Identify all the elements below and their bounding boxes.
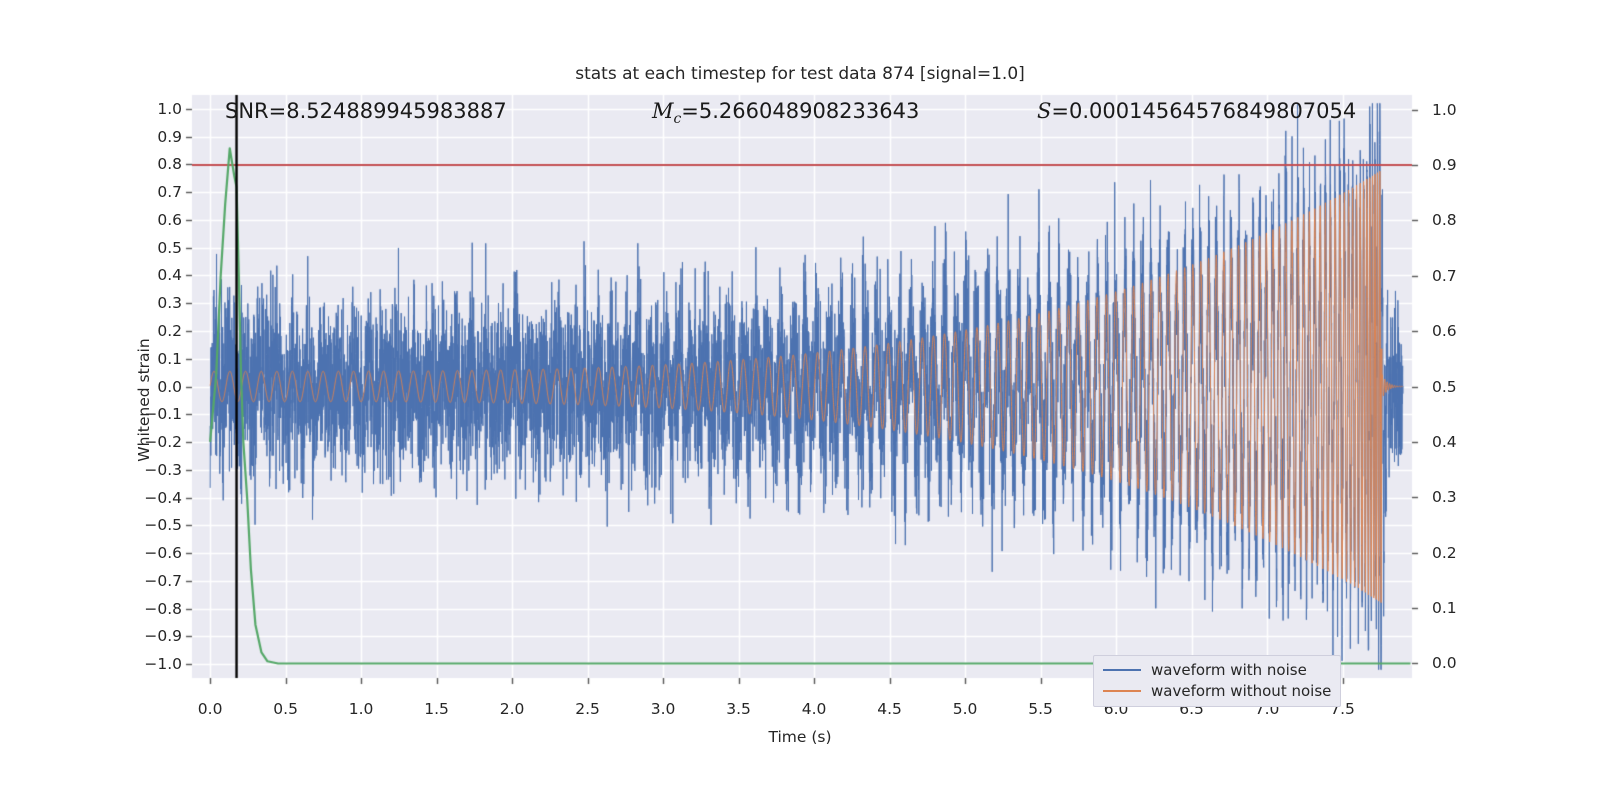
annotation-s-equals: = <box>1051 99 1069 123</box>
y-tick-left-11: −0.1 <box>144 405 182 423</box>
y-tick-left-18: −0.8 <box>144 600 182 618</box>
x-tick-11: 5.5 <box>1028 700 1053 718</box>
annotation-mc-label: M <box>652 99 674 123</box>
x-tick-9: 4.5 <box>877 700 902 718</box>
y-tick-left-0: 1.0 <box>157 100 182 118</box>
y-tick-right-10: 0.0 <box>1432 654 1457 672</box>
y-tick-right-7: 0.3 <box>1432 488 1457 506</box>
x-tick-7: 3.5 <box>726 700 751 718</box>
y-tick-right-8: 0.2 <box>1432 544 1457 562</box>
y-tick-left-10: 0.0 <box>157 378 182 396</box>
y-tick-left-20: −1.0 <box>144 655 182 673</box>
y-tick-right-0: 1.0 <box>1432 101 1457 119</box>
y-tick-right-9: 0.1 <box>1432 599 1457 617</box>
legend-item-0[interactable]: waveform with noise <box>1103 661 1331 679</box>
legend-label-0: waveform with noise <box>1151 661 1307 679</box>
x-tick-10: 5.0 <box>953 700 978 718</box>
y-tick-left-13: −0.3 <box>144 461 182 479</box>
y-tick-left-7: 0.3 <box>157 294 182 312</box>
x-axis-label: Time (s) <box>0 728 1600 746</box>
annotation-s-label: S <box>1037 99 1051 123</box>
annotation-snr-value: 8.524889945983887 <box>286 99 506 123</box>
figure-container: stats at each timestep for test data 874… <box>0 0 1600 800</box>
x-tick-0: 0.0 <box>198 700 223 718</box>
y-tick-left-9: 0.1 <box>157 350 182 368</box>
chart-title: stats at each timestep for test data 874… <box>0 64 1600 84</box>
y-tick-right-1: 0.9 <box>1432 156 1457 174</box>
annotation-significance: S=0.00014564576849807054 <box>1037 99 1356 123</box>
y-tick-left-14: −0.4 <box>144 489 182 507</box>
annotation-mc-value: 5.266048908233643 <box>699 99 919 123</box>
annotation-snr: SNR=8.524889945983887 <box>225 99 507 123</box>
chart-legend: waveform with noisewaveform without nois… <box>1093 655 1341 707</box>
x-tick-4: 2.0 <box>500 700 525 718</box>
y-tick-left-4: 0.6 <box>157 211 182 229</box>
y-tick-left-16: −0.6 <box>144 544 182 562</box>
annotation-snr-label: SNR= <box>225 99 286 123</box>
annotation-mc-equals: = <box>681 99 699 123</box>
y-tick-left-19: −0.9 <box>144 627 182 645</box>
x-tick-8: 4.0 <box>802 700 827 718</box>
y-tick-right-2: 0.8 <box>1432 211 1457 229</box>
x-tick-2: 1.0 <box>349 700 374 718</box>
y-tick-right-3: 0.7 <box>1432 267 1457 285</box>
y-tick-right-4: 0.6 <box>1432 322 1457 340</box>
y-tick-left-3: 0.7 <box>157 183 182 201</box>
annotation-chirp-mass: Mc=5.266048908233643 <box>652 99 919 127</box>
legend-item-1[interactable]: waveform without noise <box>1103 682 1331 700</box>
chart-title-text: stats at each timestep for test data 874… <box>575 64 1025 84</box>
legend-label-1: waveform without noise <box>1151 682 1331 700</box>
y-tick-right-6: 0.4 <box>1432 433 1457 451</box>
x-tick-1: 0.5 <box>273 700 298 718</box>
y-tick-left-1: 0.9 <box>157 128 182 146</box>
annotation-s-value: 0.00014564576849807054 <box>1069 99 1356 123</box>
y-tick-left-17: −0.7 <box>144 572 182 590</box>
y-tick-left-15: −0.5 <box>144 516 182 534</box>
y-tick-left-12: −0.2 <box>144 433 182 451</box>
legend-swatch-0 <box>1103 669 1141 671</box>
x-tick-5: 2.5 <box>575 700 600 718</box>
legend-swatch-1 <box>1103 690 1141 692</box>
x-tick-3: 1.5 <box>424 700 449 718</box>
y-tick-right-5: 0.5 <box>1432 378 1457 396</box>
y-tick-left-8: 0.2 <box>157 322 182 340</box>
x-tick-6: 3.0 <box>651 700 676 718</box>
y-tick-left-2: 0.8 <box>157 155 182 173</box>
y-tick-left-6: 0.4 <box>157 266 182 284</box>
y-tick-left-5: 0.5 <box>157 239 182 257</box>
